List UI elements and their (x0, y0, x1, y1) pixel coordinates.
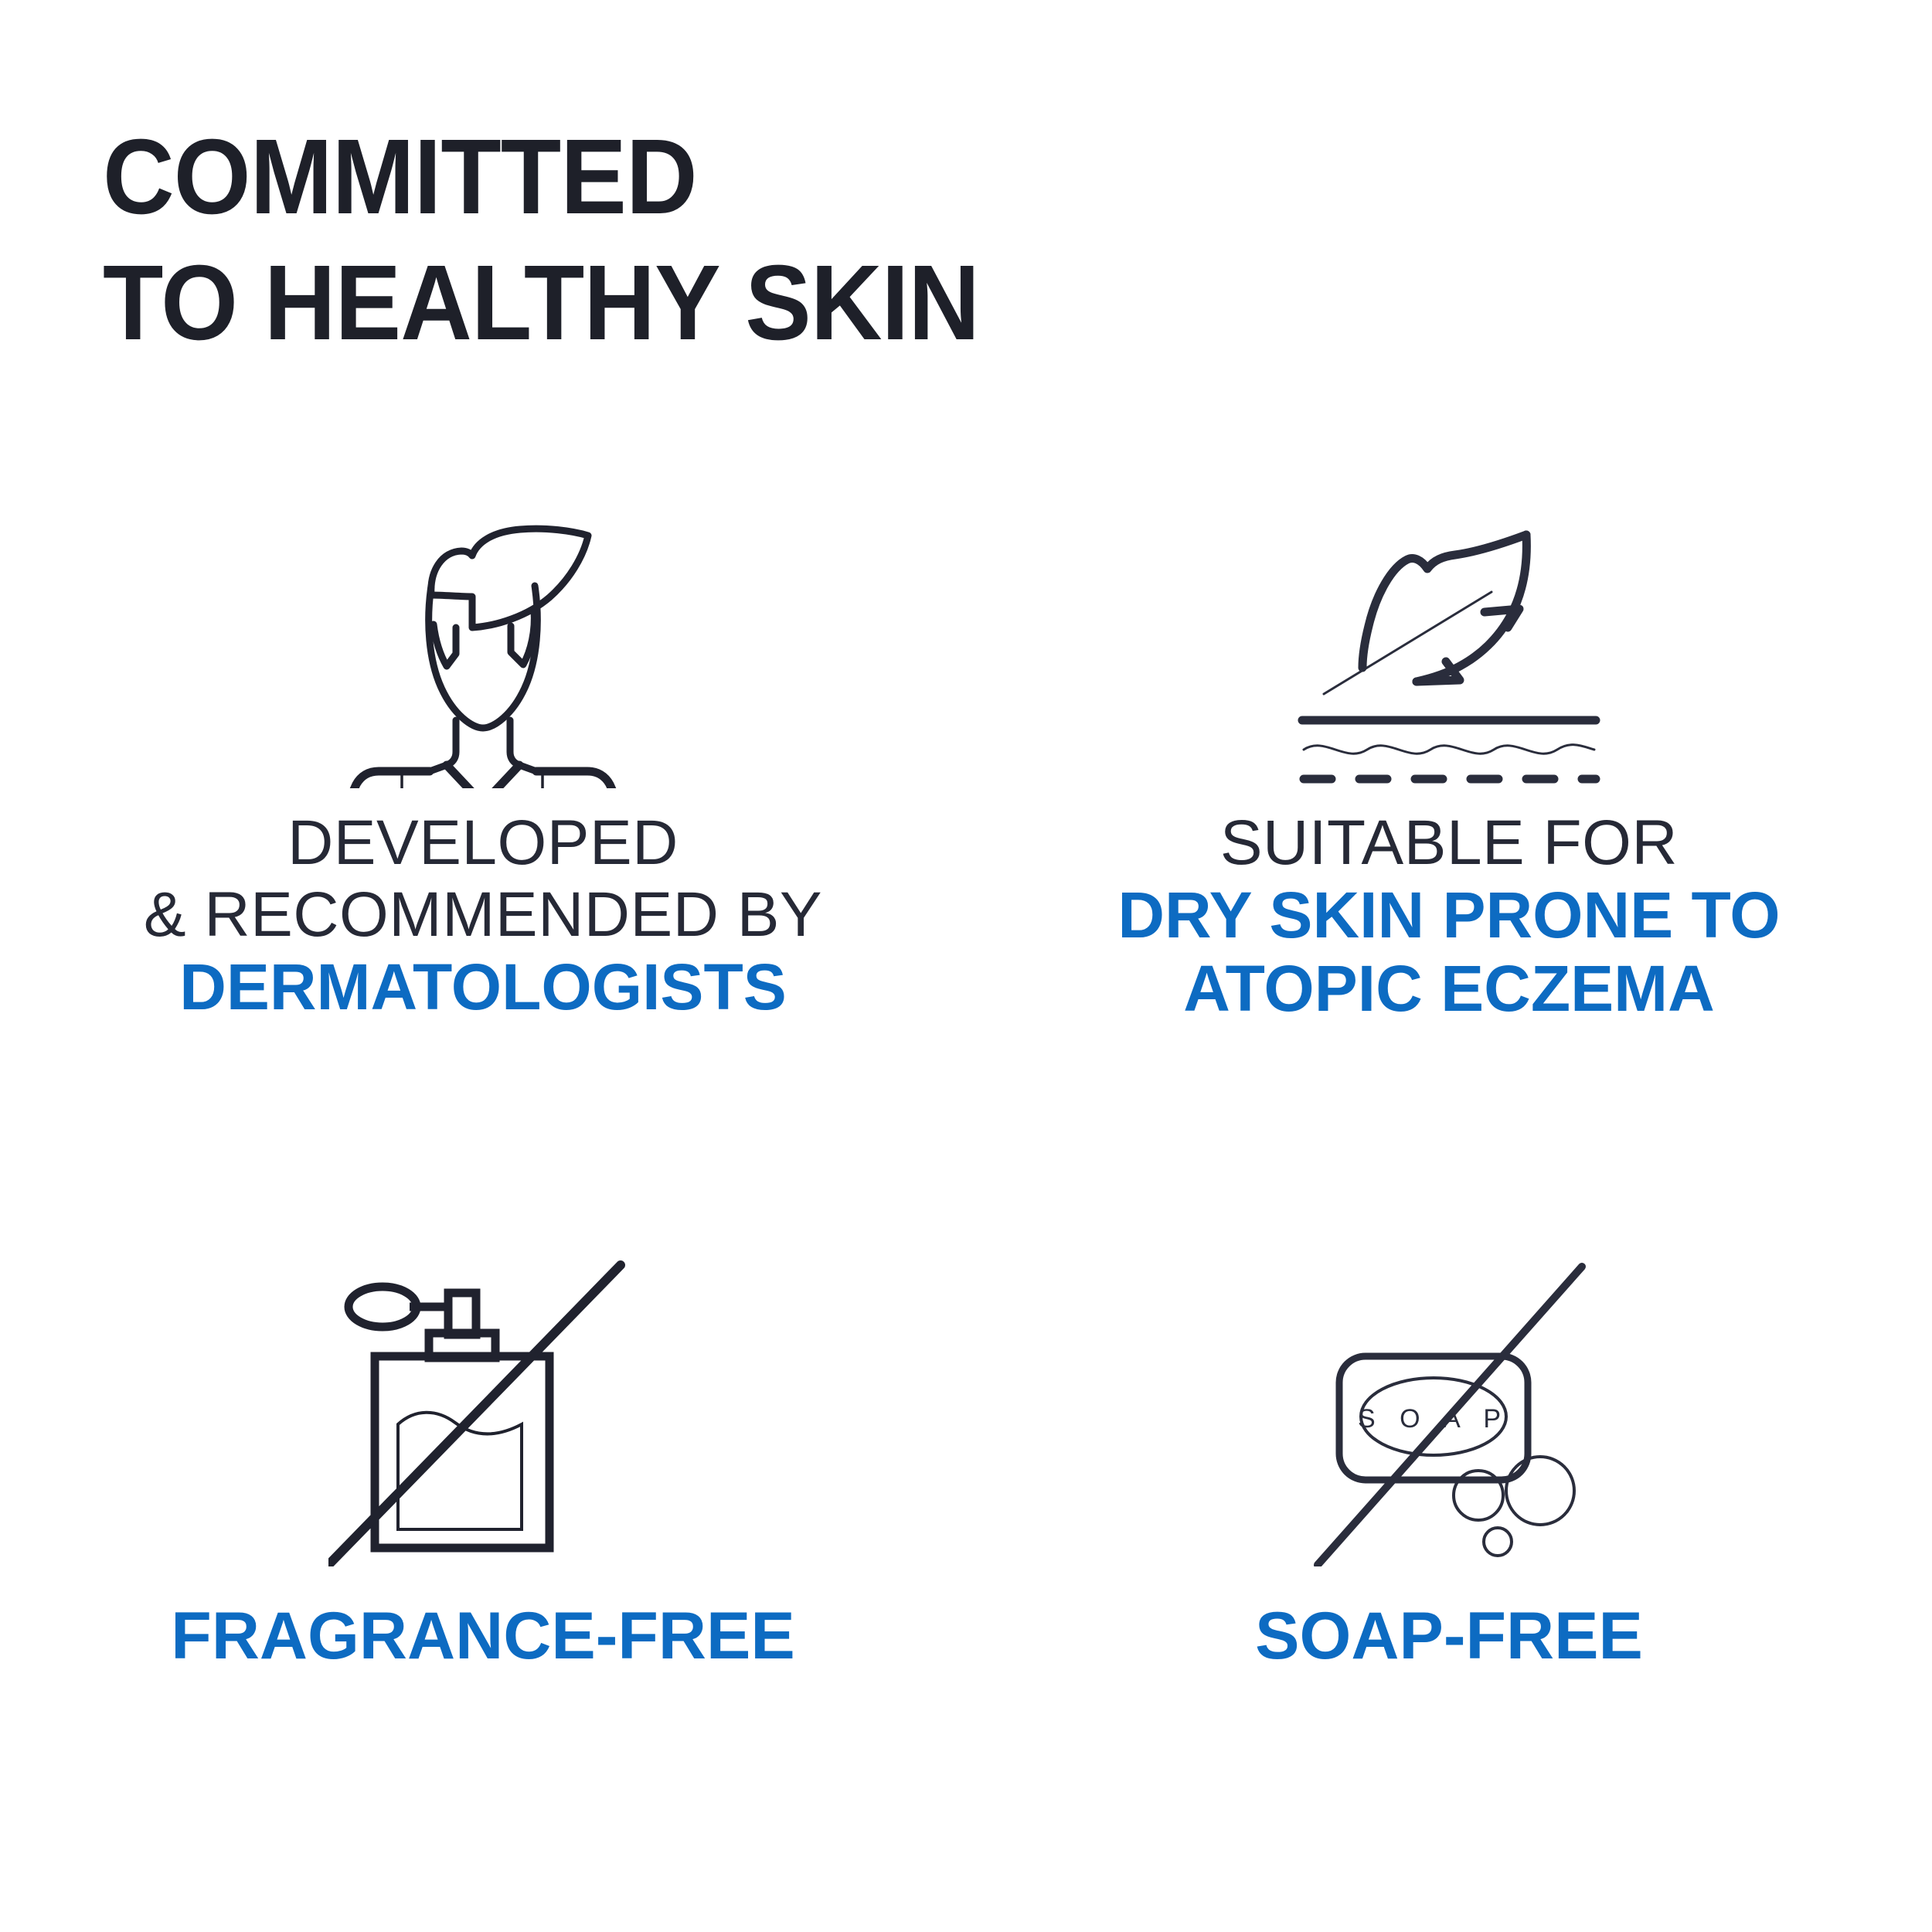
headline-line-1: COMMITTED (103, 114, 1325, 240)
feature-1-line-3: DERMATOLOGISTS (144, 951, 822, 1024)
feature-3-label: FRAGRANCE-FREE (171, 1599, 794, 1673)
no-fragrance-icon-slot (328, 1257, 638, 1566)
feature-2-text: SUITABLE FOR DRY SKIN PRONE TO ATOPIC EC… (1117, 807, 1780, 1026)
feature-3-text: FRAGRANCE-FREE (171, 1599, 794, 1673)
feature-developed-by-dermatologists: DEVELOPED & RECOMMENDED BY DERMATOLOGIST… (0, 479, 966, 1026)
feather-on-skin-icon-slot (1294, 479, 1604, 788)
doctor-icon (328, 495, 638, 788)
doctor-icon-slot (328, 479, 638, 788)
feature-row-1: DEVELOPED & RECOMMENDED BY DERMATOLOGIST… (0, 479, 1932, 1026)
feature-fragrance-free: FRAGRANCE-FREE (0, 1257, 966, 1673)
no-soap-icon: S O A P (1294, 1257, 1604, 1566)
no-fragrance-icon (328, 1257, 638, 1566)
promo-panel: COMMITTED TO HEALTHY SKIN (0, 0, 1932, 1932)
feature-1-line-1: DEVELOPED (144, 807, 822, 879)
headline-line-2: TO HEALTHY SKIN (103, 240, 1325, 366)
feature-soap-free: S O A P SOAP-FREE (966, 1257, 1932, 1673)
feature-4-label: SOAP-FREE (1255, 1599, 1643, 1673)
feature-suitable-for-dry-skin: SUITABLE FOR DRY SKIN PRONE TO ATOPIC EC… (966, 479, 1932, 1026)
feather-on-skin-icon (1294, 518, 1604, 788)
feature-2-line-1: SUITABLE FOR (1117, 807, 1780, 879)
feature-2-line-3: ATOPIC ECZEMA (1117, 952, 1780, 1026)
feature-2-line-2: DRY SKIN PRONE TO (1117, 879, 1780, 952)
soap-bar-text: S O A P (1358, 1404, 1509, 1434)
no-soap-icon-slot: S O A P (1294, 1257, 1604, 1566)
feature-row-2: FRAGRANCE-FREE (0, 1257, 1932, 1673)
feature-1-line-2: & RECOMMENDED BY (144, 879, 822, 951)
page-title: COMMITTED TO HEALTHY SKIN (103, 114, 1417, 366)
feature-4-text: SOAP-FREE (1255, 1599, 1643, 1673)
feature-1-text: DEVELOPED & RECOMMENDED BY DERMATOLOGIST… (144, 807, 822, 1024)
feature-grid: DEVELOPED & RECOMMENDED BY DERMATOLOGIST… (0, 479, 1932, 1673)
